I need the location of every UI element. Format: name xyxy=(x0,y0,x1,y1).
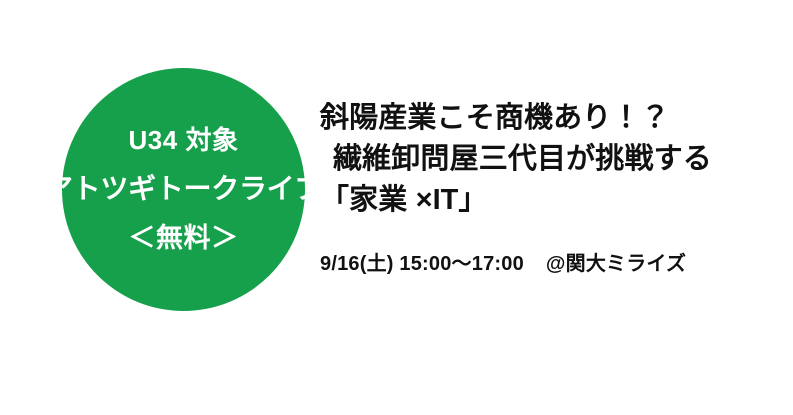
headline-line-3-suffix: 」 xyxy=(458,184,487,216)
headline-line-2: 繊維卸問屋三代目が挑戦する xyxy=(320,139,775,180)
page-title: 斜陽産業こそ商機あり！？ 繊維卸問屋三代目が挑戦する 「家業 ×IT」 xyxy=(320,98,775,222)
event-details: 斜陽産業こそ商機あり！？ 繊維卸問屋三代目が挑戦する 「家業 ×IT」 9/16… xyxy=(320,98,775,276)
headline-line-1: 斜陽産業こそ商機あり！？ xyxy=(320,98,775,139)
headline-line-3: 「家業 ×IT」 xyxy=(320,180,775,221)
event-schedule: 9/16(土) 15:00〜17:00@関大ミライズ xyxy=(320,252,775,276)
free-event-badge: U34 対象 アトツギトークライブ ＜無料＞ xyxy=(62,68,305,311)
headline-line-3-prefix: 「家業 xyxy=(320,184,416,216)
badge-audience-label: U34 対象 xyxy=(128,127,238,153)
event-venue: @関大ミライズ xyxy=(546,253,686,275)
event-banner: U34 対象 アトツギトークライブ ＜無料＞ 斜陽産業こそ商機あり！？ 繊維卸問… xyxy=(0,0,793,415)
badge-event-title: アトツギトークライブ xyxy=(45,175,322,203)
badge-price-label: ＜無料＞ xyxy=(128,225,238,252)
event-datetime: 9/16(土) 15:00〜17:00 xyxy=(320,253,524,275)
headline-line-3-latin: ×IT xyxy=(416,184,459,216)
